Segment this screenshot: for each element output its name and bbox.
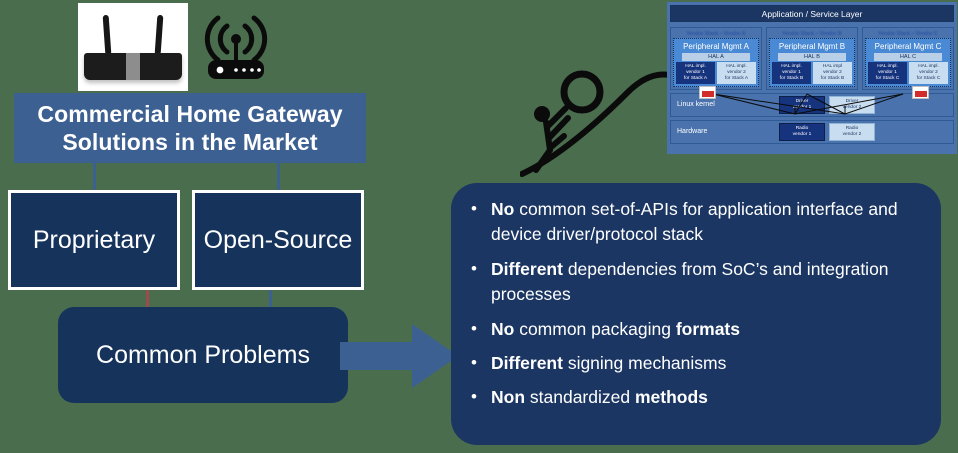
arch-hal-impl-c2-line2: vendor 2 xyxy=(919,70,938,75)
router-antenna-right xyxy=(155,15,164,55)
issue-lead-0: No xyxy=(491,199,514,219)
arch-hal-b: HAL B xyxy=(778,53,846,61)
warning-icon-left xyxy=(699,86,716,99)
arch-hal-impl-a1-line1: HAL impl. xyxy=(685,64,706,69)
issue-lead-1: Different xyxy=(491,259,563,279)
bullet-icon: • xyxy=(469,197,491,222)
arch-hal-impl-a2-line2: vendor 2 xyxy=(727,70,746,75)
connector-title-to-opensource xyxy=(277,163,280,191)
bullet-icon: • xyxy=(469,317,491,342)
arch-hal-impl-c2-line1: HAL impl. xyxy=(918,64,939,69)
arch-hardware-label: Hardware xyxy=(671,128,707,135)
category-label-open-source: Open-Source xyxy=(204,226,353,255)
arch-hal-impl-a1-line2: vendor 1 xyxy=(686,70,705,75)
arch-hal-impl-a1: HAL impl. vendor 1 for Stack A xyxy=(676,62,715,84)
arch-peripheral-caption-b: Vendor Stack – Vendor B xyxy=(769,30,855,38)
category-label-proprietary: Proprietary xyxy=(33,226,155,255)
issue-lead-2: No xyxy=(491,319,514,339)
bullet-icon: • xyxy=(469,351,491,376)
category-box-open-source[interactable]: Open-Source xyxy=(192,190,364,290)
arch-peripheral-title-b: Peripheral Mgmt B xyxy=(772,41,852,52)
list-item: • Different signing mechanisms xyxy=(469,351,921,376)
arch-hardware-row: Hardware Radio vendor 1 Radio vendor 2 xyxy=(670,120,954,144)
arch-hal-impl-a2-line3: for Stack A xyxy=(725,76,748,81)
slide-canvas: Commercial Home Gateway Solutions in the… xyxy=(0,0,958,453)
arch-hal-impl-b2: HAL impl vendor 2 for Stack B xyxy=(813,62,852,84)
arch-driver-vendor-1-line2: vendor 1 xyxy=(793,105,812,111)
router-body xyxy=(84,53,182,80)
issue-rest-4: standardized xyxy=(525,387,635,407)
list-item: • No common packaging formats xyxy=(469,317,921,342)
arch-hal-impl-c2-line3: for Stack C xyxy=(917,76,941,81)
issue-rest-2: common packaging xyxy=(514,319,675,339)
arch-application-service-layer: Application / Service Layer xyxy=(670,5,954,22)
arch-hal-impl-b2-line1: HAL impl xyxy=(823,64,842,69)
common-problems-label: Common Problems xyxy=(96,340,310,370)
arch-hal-impl-c1-line3: for Stack C xyxy=(876,76,900,81)
arch-hal-impl-b1-line3: for Stack B xyxy=(780,76,803,81)
list-item: • Non standardized methods xyxy=(469,385,921,410)
arch-hal-impl-c1: HAL impl. vendor 1 for Stack C xyxy=(868,62,907,84)
issue-lead-3: Different xyxy=(491,353,563,373)
page-title-line1: Commercial Home Gateway xyxy=(37,101,342,127)
connector-title-to-proprietary xyxy=(93,163,96,191)
arch-peripheral-block-b: Vendor Stack – Vendor B Peripheral Mgmt … xyxy=(766,27,858,90)
arch-radio-vendor-1: Radio vendor 1 xyxy=(779,123,825,141)
arch-radio-vendor-2: Radio vendor 2 xyxy=(829,123,875,141)
home-router-photo xyxy=(78,3,188,91)
router-antenna-left xyxy=(103,15,112,55)
issue-rest-0: common set-of-APIs for application inter… xyxy=(491,199,898,244)
arch-peripheral-block-a: Vendor Stack – Vendor A Peripheral Mgmt … xyxy=(670,27,762,90)
common-problems-box[interactable]: Common Problems xyxy=(58,307,348,403)
bullet-icon: • xyxy=(469,257,491,282)
page-title: Commercial Home Gateway Solutions in the… xyxy=(14,93,366,163)
arch-hal-impl-a2: HAL impl. vendor 2 for Stack A xyxy=(717,62,756,84)
arch-driver-vendor-2-line2: vendor 2 xyxy=(843,105,862,111)
arch-peripheral-caption-a: Vendor Stack – Vendor A xyxy=(673,30,759,38)
wireless-router-icon xyxy=(200,10,272,84)
arch-driver-vendor-1: Driver vendor 1 xyxy=(779,96,825,114)
arch-hal-impl-b1-line2: vendor 1 xyxy=(782,70,801,75)
arch-hal-a: HAL A xyxy=(682,53,750,61)
arch-driver-vendor-2: Driver vendor 2 xyxy=(829,96,875,114)
arch-peripheral-block-c: Vendor Stack – Vendor C Peripheral Mgmt … xyxy=(862,27,954,90)
arch-hal-impl-b1-line1: HAL impl. xyxy=(781,64,802,69)
arch-radio-vendor-2-line2: vendor 2 xyxy=(843,132,862,138)
issue-tail-2: formats xyxy=(676,319,740,339)
issue-rest-3: signing mechanisms xyxy=(563,353,726,373)
arch-hal-impl-c1-line2: vendor 1 xyxy=(878,70,897,75)
arch-radio-vendor-1-line2: vendor 1 xyxy=(793,132,812,138)
issue-tail-4: methods xyxy=(635,387,708,407)
common-problems-list-panel: • No common set-of-APIs for application … xyxy=(451,183,941,445)
category-box-proprietary[interactable]: Proprietary xyxy=(8,190,180,290)
page-title-line2: Solutions in the Market xyxy=(62,129,317,155)
arch-hal-c: HAL C xyxy=(874,53,942,61)
arch-peripheral-title-a: Peripheral Mgmt A xyxy=(676,41,756,52)
arch-hal-impl-b2-line3: for Stack B xyxy=(821,76,844,81)
issue-lead-4: Non xyxy=(491,387,525,407)
architecture-diagram: Application / Service Layer Vendor Stack… xyxy=(667,2,957,154)
arch-hal-impl-c2: HAL impl. vendor 2 for Stack C xyxy=(909,62,948,84)
right-arrow xyxy=(340,322,460,390)
arch-hal-impl-c1-line1: HAL impl. xyxy=(877,64,898,69)
list-item: • Different dependencies from SoC’s and … xyxy=(469,257,921,308)
arch-hal-impl-a1-line3: for Stack A xyxy=(684,76,707,81)
arch-hal-impl-b2-line2: vendor 2 xyxy=(823,70,842,75)
arch-hal-impl-a2-line1: HAL impl. xyxy=(726,64,747,69)
list-item: • No common set-of-APIs for application … xyxy=(469,197,921,248)
arch-linux-kernel-label: Linux kernel xyxy=(671,101,715,108)
arch-peripheral-row: Vendor Stack – Vendor A Peripheral Mgmt … xyxy=(670,27,954,90)
arch-hal-impl-b1: HAL impl. vendor 1 for Stack B xyxy=(772,62,811,84)
bullet-icon: • xyxy=(469,385,491,410)
warning-icon-right xyxy=(912,86,929,99)
arch-peripheral-title-c: Peripheral Mgmt C xyxy=(868,41,948,52)
arch-peripheral-caption-c: Vendor Stack – Vendor C xyxy=(865,30,951,38)
